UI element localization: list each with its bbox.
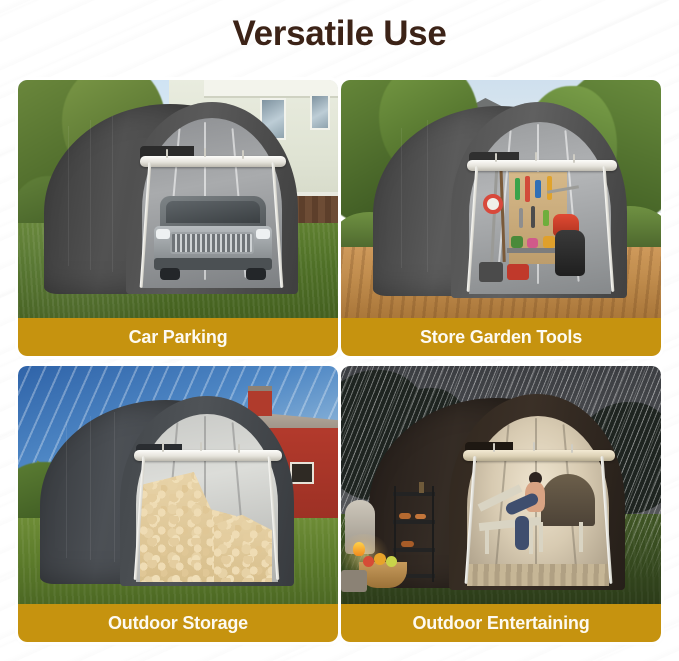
grilled-food xyxy=(399,513,411,519)
lounge-chair-canopy xyxy=(541,474,595,526)
lounge-chair-leg xyxy=(529,526,533,554)
shelter-opening xyxy=(136,414,278,582)
roller-hook xyxy=(200,442,202,451)
storage-shelter xyxy=(373,106,625,296)
grilled-food xyxy=(415,514,426,519)
hanging-tool xyxy=(519,208,523,228)
shelter-opening xyxy=(142,118,282,288)
red-container xyxy=(507,264,529,280)
hose-reel xyxy=(483,194,503,214)
fruit xyxy=(386,556,397,567)
lounge-chair-leg xyxy=(579,522,583,552)
hanging-tool xyxy=(535,180,541,198)
tool-case xyxy=(479,262,503,282)
barn-window xyxy=(290,462,314,484)
canopy-roller-bar xyxy=(140,156,286,167)
roller-hook xyxy=(242,150,244,159)
storage-shelter xyxy=(40,400,292,584)
roller-hook xyxy=(495,153,497,162)
fruit xyxy=(363,556,374,567)
lounge-chair-leg xyxy=(485,526,489,554)
bottle xyxy=(419,482,424,493)
suv-vehicle xyxy=(154,196,272,282)
card-caption: Outdoor Storage xyxy=(18,604,338,642)
shelter-opening xyxy=(469,122,611,294)
roller-hook xyxy=(533,442,535,451)
feature-card-store-garden-tools[interactable]: Store Garden Tools xyxy=(341,80,661,356)
hanging-tool xyxy=(531,206,535,228)
car-parking-image xyxy=(18,80,338,318)
deck-boards xyxy=(467,564,609,586)
roller-hook xyxy=(571,444,573,453)
outdoor-storage-image xyxy=(18,366,338,604)
plant-pot xyxy=(511,236,523,248)
roller-hook xyxy=(238,444,240,453)
plant-pot xyxy=(527,238,538,248)
house-window xyxy=(310,94,330,130)
store-garden-tools-image xyxy=(341,80,661,318)
feature-grid: Car Parking xyxy=(18,80,661,642)
carport-shelter xyxy=(44,104,296,294)
plant-pot xyxy=(543,236,555,248)
hanging-tool xyxy=(543,210,549,226)
feature-card-outdoor-entertaining[interactable]: Outdoor Entertaining xyxy=(341,366,661,642)
outdoor-entertaining-image xyxy=(341,366,661,604)
cart-shelf xyxy=(393,548,435,552)
person-legs xyxy=(515,516,529,550)
cart-shelf xyxy=(393,492,435,496)
card-caption: Outdoor Entertaining xyxy=(341,604,661,642)
roller-hook xyxy=(535,152,537,161)
roller-hook xyxy=(493,443,495,452)
equipment-bag xyxy=(555,230,585,276)
hanging-tool xyxy=(525,176,530,202)
card-caption: Store Garden Tools xyxy=(341,318,661,356)
feature-card-car-parking[interactable]: Car Parking xyxy=(18,80,338,356)
roller-hook xyxy=(166,149,168,158)
roller-hook xyxy=(573,154,575,163)
canopy-roller-bar xyxy=(463,450,615,461)
hanging-tool xyxy=(515,178,520,200)
roller-hook xyxy=(162,443,164,452)
hanging-tool xyxy=(547,176,552,200)
cooler-box xyxy=(341,570,367,592)
cart-shelf xyxy=(393,520,435,524)
page-title: Versatile Use xyxy=(0,14,679,54)
canopy-roller-bar xyxy=(467,160,617,171)
cart-leg xyxy=(432,486,434,582)
lounge-chair-leg xyxy=(539,522,543,552)
canopy-roller-bar xyxy=(134,450,282,461)
feature-card-outdoor-storage[interactable]: Outdoor Storage xyxy=(18,366,338,642)
card-caption: Car Parking xyxy=(18,318,338,356)
grilled-food xyxy=(401,541,414,547)
roller-hook xyxy=(204,148,206,157)
fruit xyxy=(374,553,386,565)
flame xyxy=(353,542,365,556)
